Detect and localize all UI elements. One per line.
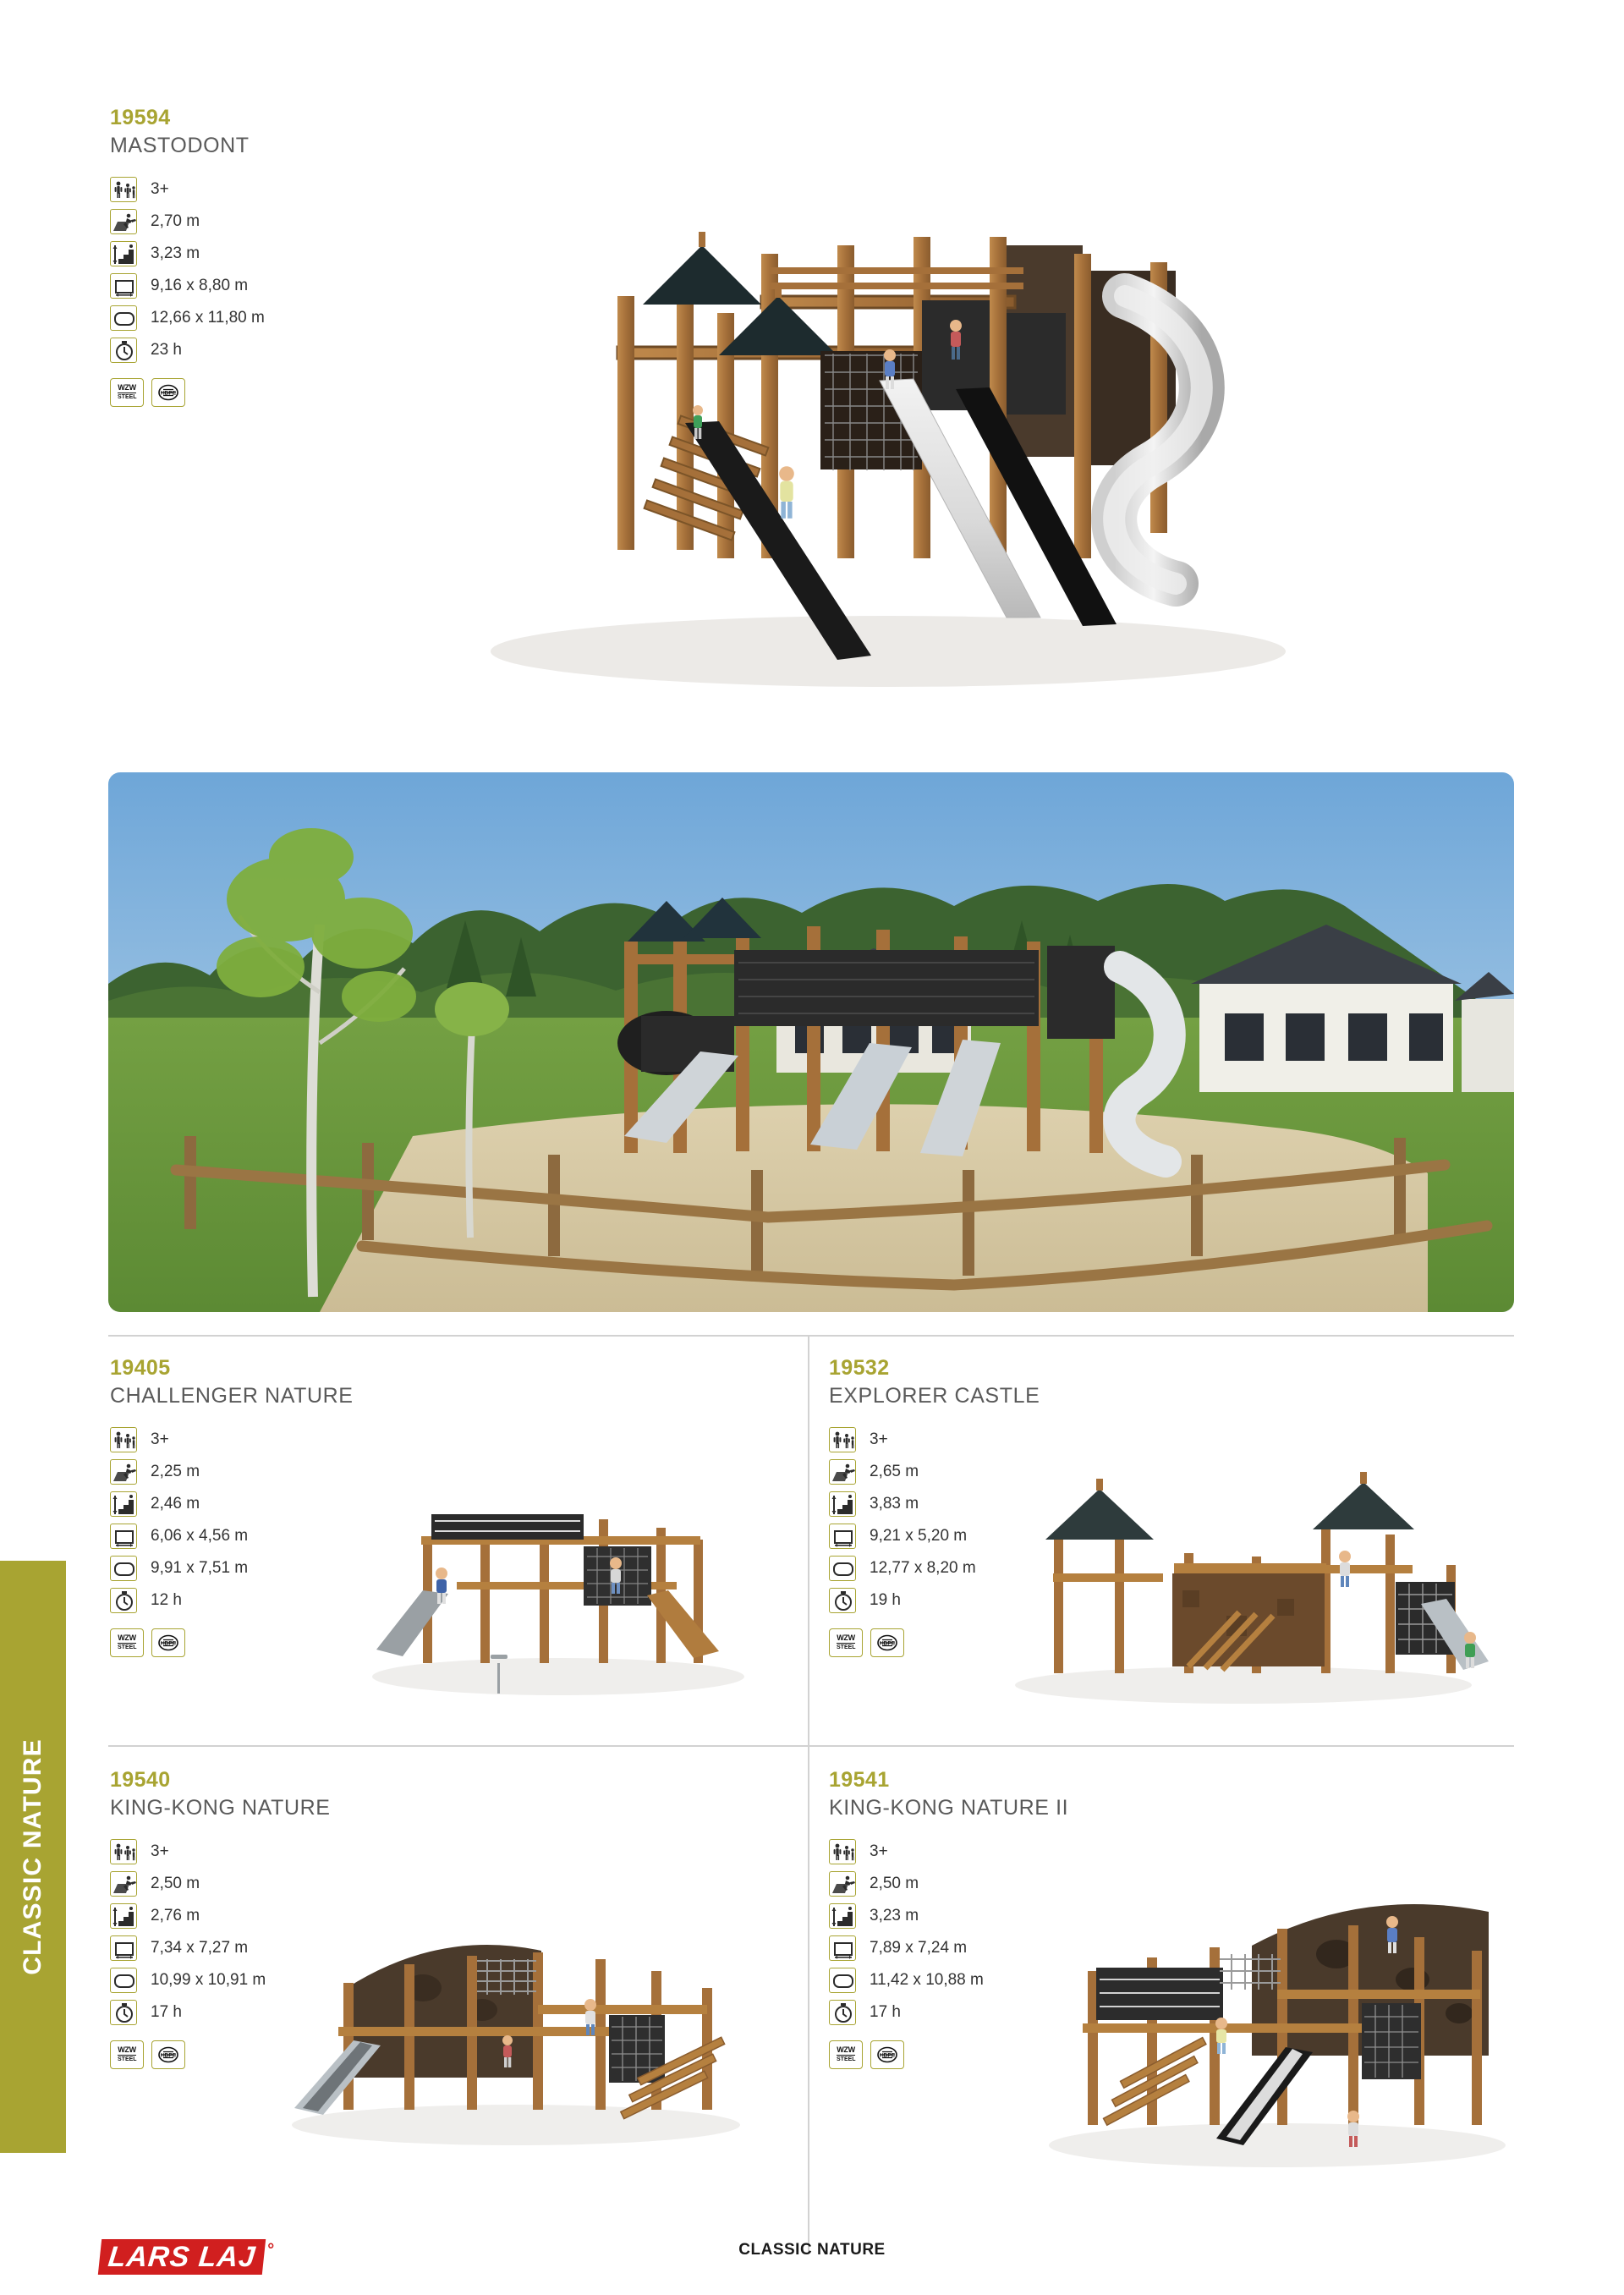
brand-logo-text: LARS LAJ xyxy=(98,2239,266,2275)
dimensions-icon xyxy=(110,1524,137,1549)
spec-value: 17 h xyxy=(151,2003,182,2022)
age-icon xyxy=(829,1839,856,1864)
fall-height-icon xyxy=(110,1871,137,1897)
install-time-icon xyxy=(110,1588,137,1613)
spec-value: 12 h xyxy=(151,1591,182,1610)
product-code: 19541 xyxy=(829,1768,1125,1793)
age-icon xyxy=(110,177,137,202)
hdpe-badge: HDPE xyxy=(870,2040,904,2069)
spec-list: 3+ 2,70 m xyxy=(110,173,389,366)
badge-line2: STEEL xyxy=(118,1643,136,1651)
platform-height-icon xyxy=(110,1903,137,1929)
product-render-19541 xyxy=(998,1844,1539,2182)
spec-value: 7,34 x 7,27 m xyxy=(151,1939,248,1957)
divider-top xyxy=(108,1335,1514,1337)
safety-area-icon xyxy=(110,1968,137,1993)
product-name: CHALLENGER NATURE xyxy=(110,1384,389,1408)
install-time-icon xyxy=(829,1588,856,1613)
spec-row-platform-height: 3,23 m xyxy=(110,238,389,270)
spec-value: 7,89 x 7,24 m xyxy=(870,1939,967,1957)
spec-row-age: 3+ xyxy=(110,173,389,206)
fall-height-icon xyxy=(110,209,137,234)
spec-value: 9,16 x 8,80 m xyxy=(151,277,248,295)
spec-value: 3+ xyxy=(151,1430,169,1449)
dimensions-icon xyxy=(110,273,137,299)
spec-value: 9,91 x 7,51 m xyxy=(151,1559,248,1578)
spec-row-install-time: 23 h xyxy=(110,334,389,366)
dimensions-icon xyxy=(829,1524,856,1549)
hdpe-badge: HDPE xyxy=(151,2040,185,2069)
product-name: EXPLORER CASTLE xyxy=(829,1384,1116,1408)
spec-value: 2,50 m xyxy=(151,1875,200,1893)
safety-area-icon xyxy=(829,1968,856,1993)
badge-line1: WZW xyxy=(118,384,136,392)
badge-line2: STEEL xyxy=(837,1643,855,1651)
hdpe-badge: HDPE xyxy=(151,378,185,407)
badge-line2: STEEL xyxy=(118,2055,136,2063)
wzw-steel-badge: WZW STEEL xyxy=(829,1628,863,1657)
product-code: 19532 xyxy=(829,1356,1116,1381)
spec-value: 9,21 x 5,20 m xyxy=(870,1527,967,1546)
spec-value: 2,46 m xyxy=(151,1495,200,1513)
hdpe-icon: HDPE xyxy=(156,1633,181,1653)
hdpe-icon: HDPE xyxy=(156,382,181,403)
install-time-icon xyxy=(829,2000,856,2025)
spec-value: 3,23 m xyxy=(151,244,200,263)
install-time-icon xyxy=(110,338,137,363)
hdpe-badge: HDPE xyxy=(151,1628,185,1657)
spec-row-age: 3+ xyxy=(110,1424,389,1456)
safety-area-icon xyxy=(110,305,137,331)
brand-logo-degree: ° xyxy=(267,2241,274,2260)
spec-value: 3+ xyxy=(870,1430,888,1449)
platform-height-icon xyxy=(110,241,137,266)
product-code: 19594 xyxy=(110,106,389,130)
svg-text:HDPE: HDPE xyxy=(161,2053,177,2059)
spec-value: 10,99 x 10,91 m xyxy=(151,1971,266,1990)
spec-value: 3+ xyxy=(151,1842,169,1861)
fall-height-icon xyxy=(829,1871,856,1897)
spec-value: 19 h xyxy=(870,1591,901,1610)
section-tab-label: CLASSIC NATURE xyxy=(19,1738,47,1975)
safety-area-icon xyxy=(829,1556,856,1581)
badge-line2: STEEL xyxy=(118,393,136,401)
svg-text:HDPE: HDPE xyxy=(880,1641,896,1647)
spec-row-safety-area: 12,66 x 11,80 m xyxy=(110,302,389,334)
dimensions-icon xyxy=(110,1935,137,1961)
spec-value: 2,25 m xyxy=(151,1463,200,1481)
certification-badges: WZW STEEL HDPE xyxy=(110,378,389,407)
svg-text:HDPE: HDPE xyxy=(161,1641,177,1647)
divider-middle xyxy=(108,1745,1514,1747)
fall-height-icon xyxy=(110,1459,137,1485)
product-render-19540 xyxy=(254,1861,778,2157)
spec-value: 2,70 m xyxy=(151,212,200,231)
spec-row-age: 3+ xyxy=(829,1424,1116,1456)
badge-line1: WZW xyxy=(118,2046,136,2054)
hdpe-icon: HDPE xyxy=(875,2045,900,2065)
spec-value: 3,83 m xyxy=(870,1495,919,1513)
svg-text:HDPE: HDPE xyxy=(880,2053,896,2059)
dimensions-icon xyxy=(829,1935,856,1961)
product-render-19532 xyxy=(973,1472,1514,1717)
hdpe-icon: HDPE xyxy=(875,1633,900,1653)
spec-value: 2,50 m xyxy=(870,1875,919,1893)
product-name: KING-KONG NATURE II xyxy=(829,1796,1125,1820)
spec-value: 2,65 m xyxy=(870,1463,919,1481)
badge-line1: WZW xyxy=(118,1634,136,1642)
spec-value: 2,76 m xyxy=(151,1907,200,1925)
section-tab: CLASSIC NATURE xyxy=(0,1561,66,2153)
product-code: 19405 xyxy=(110,1356,389,1381)
product-name: MASTODONT xyxy=(110,134,389,158)
badge-line1: WZW xyxy=(837,1634,855,1642)
wzw-steel-badge: WZW STEEL xyxy=(110,378,144,407)
spec-value: 17 h xyxy=(870,2003,901,2022)
hdpe-badge: HDPE xyxy=(870,1628,904,1657)
spec-value: 11,42 x 10,88 m xyxy=(870,1971,984,1990)
safety-area-icon xyxy=(110,1556,137,1581)
wzw-steel-badge: WZW STEEL xyxy=(829,2040,863,2069)
spec-value: 6,06 x 4,56 m xyxy=(151,1527,248,1546)
spec-value: 3+ xyxy=(870,1842,888,1861)
product-render-19594 xyxy=(364,144,1413,753)
badge-line1: WZW xyxy=(837,2046,855,2054)
spec-value: 3,23 m xyxy=(870,1907,919,1925)
badge-line2: STEEL xyxy=(837,2055,855,2063)
platform-height-icon xyxy=(829,1491,856,1517)
spec-row-dimensions: 9,16 x 8,80 m xyxy=(110,270,389,302)
spec-row-fall-height: 2,70 m xyxy=(110,206,389,238)
fall-height-icon xyxy=(829,1459,856,1485)
spec-value: 12,77 x 8,20 m xyxy=(870,1559,976,1578)
product-name: KING-KONG NATURE xyxy=(110,1796,398,1820)
platform-height-icon xyxy=(110,1491,137,1517)
installation-photo xyxy=(108,772,1514,1312)
svg-text:HDPE: HDPE xyxy=(161,391,177,397)
brand-logo: LARS LAJ ° xyxy=(100,2239,274,2275)
wzw-steel-badge: WZW STEEL xyxy=(110,1628,144,1657)
age-icon xyxy=(110,1839,137,1864)
wzw-steel-badge: WZW STEEL xyxy=(110,2040,144,2069)
install-time-icon xyxy=(110,2000,137,2025)
spec-value: 23 h xyxy=(151,341,182,360)
age-icon xyxy=(829,1427,856,1452)
catalog-page: CLASSIC NATURE 19594 MASTODONT xyxy=(0,0,1624,2295)
product-render-19405 xyxy=(330,1455,787,1709)
age-icon xyxy=(110,1427,137,1452)
platform-height-icon xyxy=(829,1903,856,1929)
hdpe-icon: HDPE xyxy=(156,2045,181,2065)
product-block-19594: 19594 MASTODONT xyxy=(110,106,389,407)
spec-value: 3+ xyxy=(151,180,169,199)
spec-value: 12,66 x 11,80 m xyxy=(151,309,265,327)
product-code: 19540 xyxy=(110,1768,398,1793)
divider-vertical xyxy=(808,1335,809,2253)
